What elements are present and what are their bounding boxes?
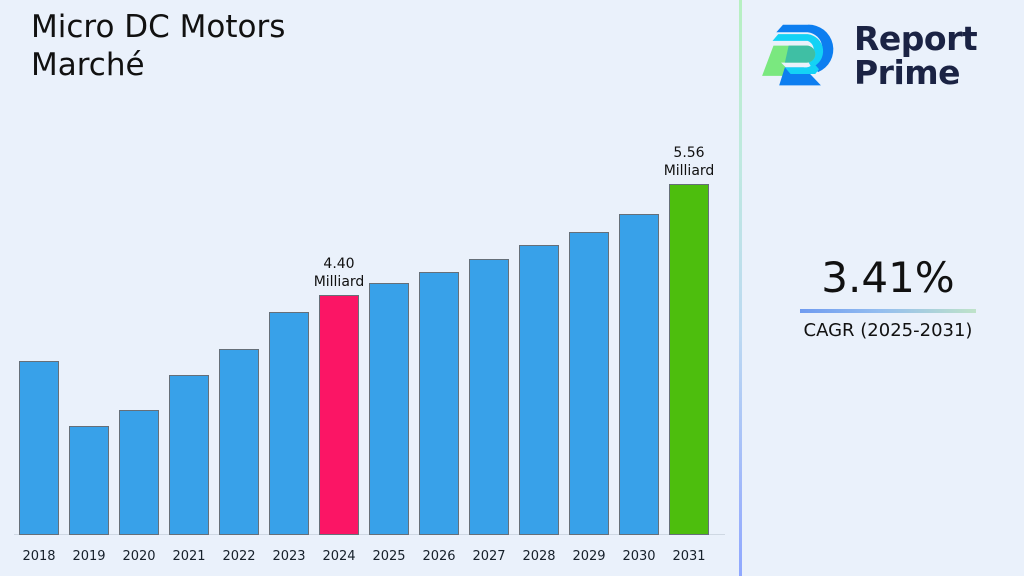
cagr-value: 3.41% bbox=[760, 253, 1016, 303]
bar-2022[interactable] bbox=[219, 349, 259, 535]
bar-2018[interactable] bbox=[19, 361, 59, 535]
bar-group-2020[interactable] bbox=[119, 410, 159, 535]
bar-group-2019[interactable] bbox=[69, 426, 109, 535]
bar-group-2018[interactable] bbox=[19, 361, 59, 535]
bar-chart: 2018201920202021202220234.40 Milliard202… bbox=[0, 110, 739, 576]
bar-group-2030[interactable] bbox=[619, 214, 659, 535]
report-prime-logo-icon bbox=[760, 19, 842, 93]
bar-2027[interactable] bbox=[469, 259, 509, 535]
bar-2025[interactable] bbox=[369, 283, 409, 535]
bar-2024[interactable] bbox=[319, 295, 359, 535]
bar-group-2031[interactable]: 5.56 Milliard bbox=[669, 184, 709, 535]
panel-divider bbox=[739, 0, 742, 576]
bar-group-2028[interactable] bbox=[519, 245, 559, 535]
bar-2029[interactable] bbox=[569, 232, 609, 535]
cagr-caption: CAGR (2025-2031) bbox=[760, 319, 1016, 343]
brand-name: Report Prime bbox=[854, 22, 977, 90]
bar-group-2027[interactable] bbox=[469, 259, 509, 535]
bar-group-2025[interactable] bbox=[369, 283, 409, 535]
bar-2021[interactable] bbox=[169, 375, 209, 535]
chart-page: Micro DC Motors Marché 20182019202020212… bbox=[0, 0, 1024, 576]
bar-2028[interactable] bbox=[519, 245, 559, 535]
bar-2023[interactable] bbox=[269, 312, 309, 535]
bar-group-2024[interactable]: 4.40 Milliard bbox=[319, 295, 359, 535]
bar-2019[interactable] bbox=[69, 426, 109, 535]
bar-value-label-2031: 5.56 Milliard bbox=[646, 144, 732, 180]
bar-group-2026[interactable] bbox=[419, 272, 459, 535]
bar-2031[interactable] bbox=[669, 184, 709, 535]
page-title: Micro DC Motors Marché bbox=[31, 8, 711, 84]
bar-group-2021[interactable] bbox=[169, 375, 209, 535]
bar-2020[interactable] bbox=[119, 410, 159, 535]
brand-name-line1: Report bbox=[854, 22, 977, 56]
brand-name-line2: Prime bbox=[854, 56, 977, 90]
cagr-divider-rule bbox=[800, 309, 976, 313]
bar-group-2023[interactable] bbox=[269, 312, 309, 535]
cagr-block: 3.41% CAGR (2025-2031) bbox=[760, 253, 1016, 343]
bar-group-2022[interactable] bbox=[219, 349, 259, 535]
bar-group-2029[interactable] bbox=[569, 232, 609, 535]
bar-2026[interactable] bbox=[419, 272, 459, 535]
brand-logo: Report Prime bbox=[760, 12, 1016, 100]
bar-2030[interactable] bbox=[619, 214, 659, 535]
x-tick-2031: 2031 bbox=[659, 549, 719, 564]
